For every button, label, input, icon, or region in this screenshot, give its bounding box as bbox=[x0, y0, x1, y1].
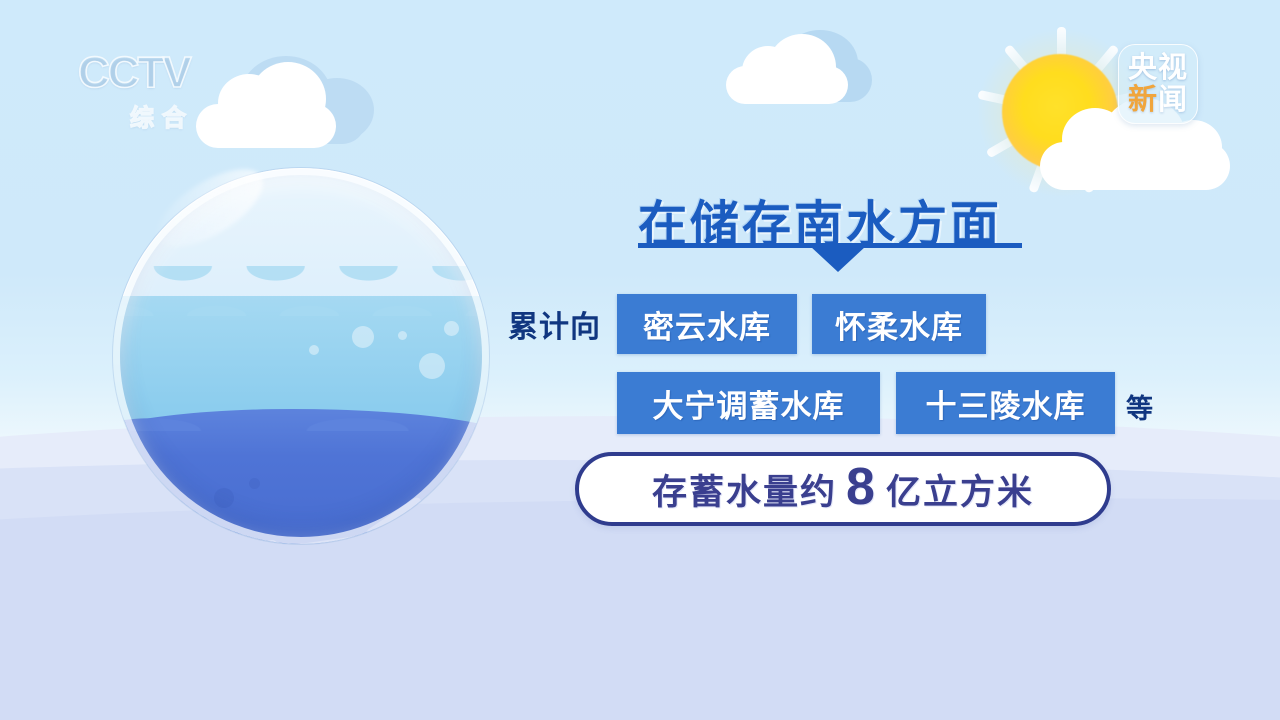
water-sphere bbox=[113, 168, 489, 544]
water-layer-dark bbox=[113, 409, 489, 544]
reservoir-tag-daning: 大宁调蓄水库 bbox=[617, 372, 880, 434]
volume-amount: 8 bbox=[846, 464, 877, 511]
chevron-down-icon bbox=[810, 246, 866, 272]
news-badge-line1: 央视 bbox=[1128, 54, 1188, 83]
statement-prefix: 累计向 bbox=[508, 302, 601, 346]
reservoir-tag-shisanling: 十三陵水库 bbox=[896, 372, 1115, 434]
cctv-news-badge: 央视 新闻 bbox=[1118, 44, 1198, 124]
infographic-stage: CCTV 综合 央视 新闻 在储存南水方面 累计向 密云水库 怀柔水库 大宁调蓄… bbox=[0, 0, 1280, 720]
volume-unit: 亿立方米 bbox=[886, 464, 1034, 515]
cloud-icon-top bbox=[722, 30, 882, 110]
news-badge-rest: 闻 bbox=[1158, 84, 1188, 116]
volume-callout: 存蓄水量约 8 亿立方米 bbox=[575, 452, 1111, 526]
volume-text: 存蓄水量约 8 亿立方米 bbox=[652, 464, 1034, 515]
news-badge-line2: 新闻 bbox=[1128, 86, 1188, 115]
statement-suffix: 等 bbox=[1126, 387, 1153, 426]
reservoir-tag-miyun: 密云水库 bbox=[617, 294, 797, 354]
volume-lead: 存蓄水量约 bbox=[652, 464, 837, 515]
reservoir-tag-huairou: 怀柔水库 bbox=[812, 294, 986, 354]
news-badge-highlight: 新 bbox=[1128, 84, 1158, 116]
cloud-icon-left bbox=[188, 52, 378, 152]
